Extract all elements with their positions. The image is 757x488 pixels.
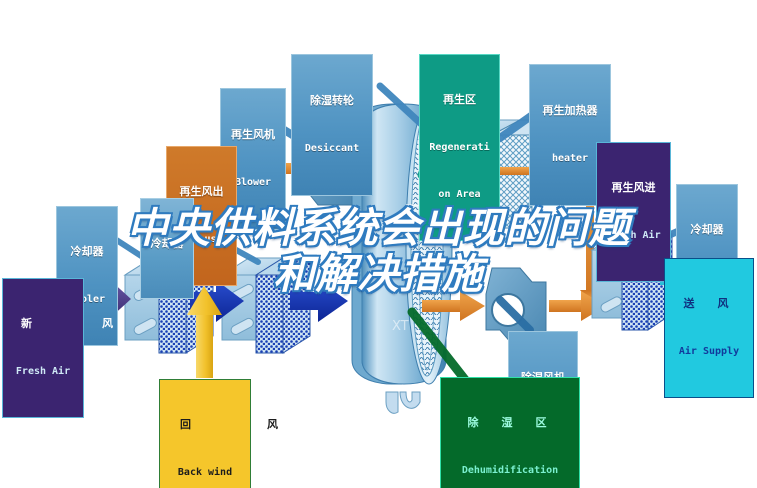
label-regen-fresh-air-cn: 再生风进 [599, 182, 668, 194]
label-back-wind-cn: 回 风 [162, 419, 248, 431]
label-fresh-air-en: Fresh Air [5, 366, 81, 377]
label-desiccant-cn: 除湿转轮 [294, 95, 370, 107]
label-regen-fresh-air: 再生风进 Fresh Air [596, 142, 671, 282]
label-desiccant-en: Desiccant [294, 143, 370, 154]
label-cooler-left-b-cn: 冷却器 [143, 238, 191, 250]
diagram-canvas: XT [0, 0, 757, 488]
label-dehum-district-cn: 除 湿 区 [443, 417, 577, 429]
label-cooler-left-b: 冷却器 [140, 198, 194, 299]
label-cooler-left-a-cn: 冷却器 [59, 246, 115, 258]
label-regen-fresh-air-en: Fresh Air [599, 230, 668, 241]
label-regen-area-en2: on Area [422, 189, 497, 200]
label-regen-heater-cn: 再生加热器 [532, 105, 608, 117]
label-air-supply-en: Air Supply [667, 346, 751, 357]
label-exhaust-cn: 再生风出 [169, 186, 234, 198]
label-regen-area: 再生区 Regenerati on Area [419, 54, 500, 241]
label-desiccant: 除湿转轮 Desiccant [291, 54, 373, 196]
label-air-supply: 送 风 Air Supply [664, 258, 754, 398]
svg-text:XT: XT [392, 319, 409, 334]
label-regen-area-en1: Regenerati [422, 142, 497, 153]
label-dehum-district: 除 湿 区 Dehumidification District [440, 377, 580, 488]
label-fresh-air: 新 风 Fresh Air [2, 278, 84, 418]
label-cooler-right-cn: 冷却器 [679, 224, 735, 236]
label-back-wind-en: Back wind [162, 467, 248, 478]
label-back-wind: 回 风 Back wind [159, 379, 251, 488]
label-fresh-air-cn: 新 风 [5, 318, 81, 330]
label-air-supply-cn: 送 风 [667, 298, 751, 310]
label-dehum-district-en1: Dehumidification [443, 465, 577, 476]
label-regen-area-cn: 再生区 [422, 94, 497, 106]
label-regen-blower-cn: 再生风机 [223, 129, 283, 141]
